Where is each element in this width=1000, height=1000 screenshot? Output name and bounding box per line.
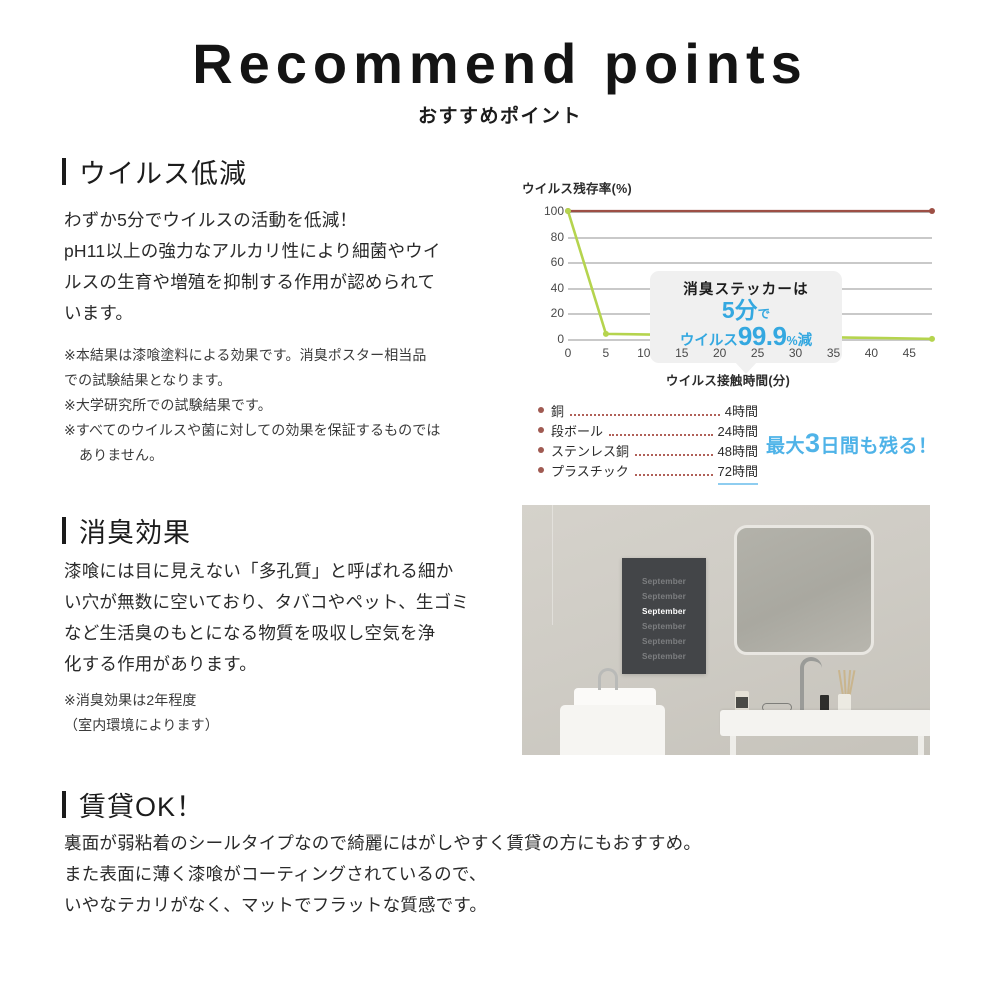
- legend-material-name: プラスチック: [551, 462, 629, 482]
- max-days-number: 3: [805, 428, 821, 458]
- section-heading-virus: ウイルス低減: [62, 152, 247, 191]
- section-body-virus: わずか5分でウイルスの活動を低減！ pH11以上の強力なアルカリ性により細菌やウ…: [64, 205, 514, 329]
- body-line: います。: [64, 298, 514, 329]
- legend-duration-value: 24時間: [718, 422, 758, 442]
- photo-faucet-left: [598, 668, 618, 690]
- page-subtitle: おすすめポイント: [0, 101, 1000, 128]
- note-line: ※すべてのウイルスや菌に対しての効果を保証するものでは: [64, 418, 524, 443]
- x-tick-label: 5: [603, 346, 610, 360]
- note-line: （室内環境によります）: [64, 713, 514, 738]
- photo-vanity-counter: [720, 710, 930, 736]
- legend-row: プラスチック 72時間: [538, 462, 758, 485]
- chart-x-axis-label: ウイルス接触時間(分): [522, 370, 934, 389]
- poster-line-highlight: September: [622, 604, 706, 619]
- photo-toilet: [560, 705, 665, 755]
- x-tick-label: 0: [565, 346, 572, 360]
- body-line: pH11以上の強力なアルカリ性により細菌やウイ: [64, 236, 514, 267]
- note-line: ※大学研究所での試験結果です。: [64, 393, 524, 418]
- dotted-leader: [570, 414, 720, 416]
- bullet-dot-icon: [538, 407, 544, 413]
- body-line: わずか5分でウイルスの活動を低減！: [64, 205, 514, 236]
- photo-mirror: [734, 525, 874, 655]
- max-days-suffix: 日間も残る！: [821, 436, 938, 457]
- callout-minutes-suffix: で: [758, 307, 771, 321]
- body-line: 漆喰には目に見えない「多孔質」と呼ばれる細か: [64, 556, 514, 587]
- x-tick-label: 45: [903, 346, 916, 360]
- section-body-rental: 裏面が弱粘着のシールタイプなので綺麗にはがしやすく賃貸の方にもおすすめ。 また表…: [64, 828, 944, 921]
- poster-line: September: [622, 649, 706, 664]
- photo-vanity-leg: [918, 736, 924, 755]
- legend-duration-value: 72時間: [718, 462, 758, 485]
- body-line: など生活臭のもとになる物質を吸収し空気を浄: [64, 618, 514, 649]
- section-heading-deodorize: 消臭効果: [62, 511, 191, 550]
- note-line: ※本結果は漆喰塗料による効果です。消臭ポスター相当品: [64, 343, 524, 368]
- dotted-leader: [635, 454, 713, 456]
- x-tick-label: 15: [675, 346, 688, 360]
- legend-row: ステンレス銅 48時間: [538, 442, 758, 462]
- body-line: 化する作用があります。: [64, 649, 514, 680]
- bullet-dot-icon: [538, 467, 544, 473]
- callout-minutes-value: 5分: [722, 297, 758, 323]
- section-heading-label: ウイルス低減: [79, 152, 247, 191]
- poster-line: September: [622, 589, 706, 604]
- chart-plot-area: 100 80 60 40 20 0 消臭ステッカーは 5分で ウイルス99.9%…: [546, 211, 932, 339]
- poster-line: September: [622, 574, 706, 589]
- page-title: Recommend points: [0, 36, 1000, 92]
- note-line: ※消臭効果は2年程度: [64, 688, 514, 713]
- max-days-prefix: 最大: [766, 436, 805, 457]
- body-line: い穴が無数に空いており、タバコやペット、生ゴミ: [64, 587, 514, 618]
- legend-duration-value: 4時間: [725, 402, 758, 422]
- x-tick-label: 30: [789, 346, 802, 360]
- x-tick-label: 40: [865, 346, 878, 360]
- x-tick-label: 35: [827, 346, 840, 360]
- section-notes-virus: ※本結果は漆喰塗料による効果です。消臭ポスター相当品 での試験結果となります。 …: [64, 343, 524, 468]
- note-line: ありません。: [64, 443, 524, 468]
- bullet-dot-icon: [538, 427, 544, 433]
- heading-accent-bar: [62, 791, 66, 818]
- heading-accent-bar: [62, 158, 66, 185]
- note-line: での試験結果となります。: [64, 368, 524, 393]
- photo-vanity-leg: [730, 736, 736, 755]
- legend-duration-value: 48時間: [718, 442, 758, 462]
- body-line: 裏面が弱粘着のシールタイプなので綺麗にはがしやすく賃貸の方にもおすすめ。: [64, 828, 944, 859]
- poster-line: September: [622, 619, 706, 634]
- max-days-callout: 最大3日間も残る！: [766, 428, 938, 459]
- section-body-deodorize: 漆喰には目に見えない「多孔質」と呼ばれる細か い穴が無数に空いており、タバコやペ…: [64, 556, 514, 680]
- legend-row: 銅 4時間: [538, 402, 758, 422]
- dotted-leader: [609, 434, 713, 436]
- section-heading-label: 消臭効果: [79, 511, 191, 550]
- heading-accent-bar: [62, 517, 66, 544]
- section-notes-deodorize: ※消臭効果は2年程度 （室内環境によります）: [64, 688, 514, 738]
- chart-x-axis: 0 5 10 15 20 25 30 35 40 45: [546, 346, 932, 364]
- x-tick-label: 20: [713, 346, 726, 360]
- bullet-dot-icon: [538, 447, 544, 453]
- virus-survival-chart: ウイルス残存率(%) 100 80 60 40 20 0 消臭ステッカーは 5分…: [522, 178, 934, 388]
- photo-reed-sticks: [840, 670, 852, 696]
- body-line: ルスの生育や増殖を抑制する作用が認められて: [64, 267, 514, 298]
- photo-poster: September September September September …: [622, 558, 706, 674]
- section-heading-rental: 賃貸OK！: [62, 785, 204, 824]
- bathroom-photo: September September September September …: [522, 505, 930, 755]
- poster-line: September: [622, 634, 706, 649]
- legend-material-name: ステンレス銅: [551, 442, 629, 462]
- chart-y-axis-label: ウイルス残存率(%): [522, 178, 632, 197]
- x-tick-label: 25: [751, 346, 764, 360]
- body-line: いやなテカリがなく、マットでフラットな質感です。: [64, 890, 944, 921]
- section-heading-label: 賃貸OK！: [79, 785, 204, 824]
- dotted-leader: [635, 474, 713, 476]
- x-tick-label: 10: [637, 346, 650, 360]
- legend-row: 段ボール 24時間: [538, 422, 758, 442]
- photo-faucet-right: [800, 657, 822, 712]
- surface-survival-legend: 銅 4時間 段ボール 24時間 ステンレス銅 48時間 プラスチック 72時間: [538, 402, 758, 485]
- body-line: また表面に薄く漆喰がコーティングされているので、: [64, 859, 944, 890]
- legend-material-name: 銅: [551, 402, 564, 422]
- legend-material-name: 段ボール: [551, 422, 603, 442]
